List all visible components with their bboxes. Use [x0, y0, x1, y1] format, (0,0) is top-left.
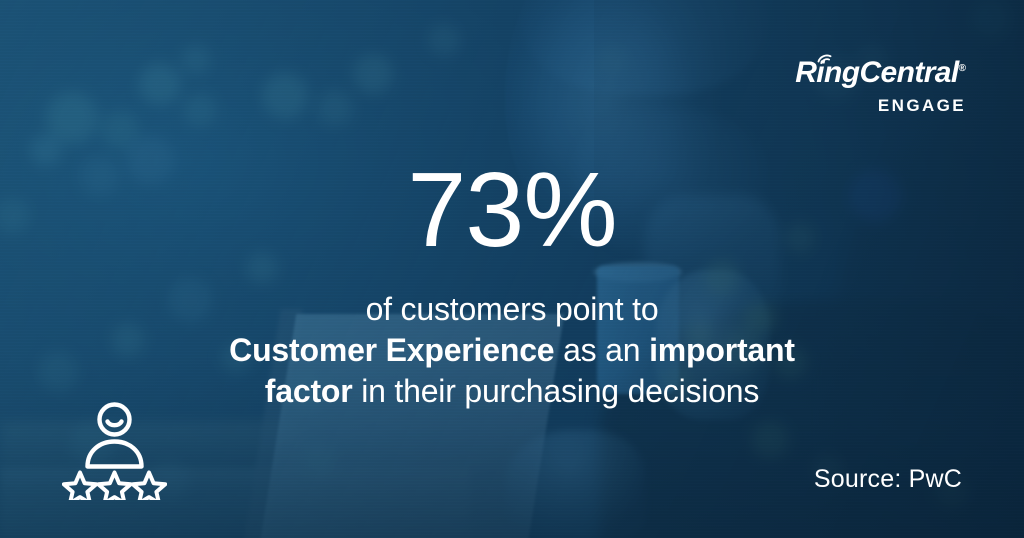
body-line2-bold-a: Customer Experience — [229, 332, 554, 368]
star-rating-group — [64, 473, 165, 501]
body-copy-line-3: factor in their purchasing decisions — [40, 371, 984, 412]
registered-trademark-symbol: ® — [959, 63, 966, 74]
infographic-card: RingCentral® ENGAGE 73% of customers poi… — [0, 0, 1024, 538]
ringcentral-wordmark: RingCentral® — [795, 58, 966, 88]
brand-logo-block[interactable]: RingCentral® ENGAGE — [795, 58, 966, 114]
body-line3-plain: in their purchasing decisions — [353, 373, 760, 409]
statistic-value: 73% — [0, 157, 1024, 263]
person-shoulders-icon — [88, 442, 142, 467]
body-line3-bold: factor — [265, 373, 353, 409]
ringcentral-logo-text: RingCentral — [795, 56, 958, 89]
customer-satisfaction-icon — [62, 400, 167, 500]
star-icon-3 — [133, 473, 165, 501]
star-icon-1 — [64, 473, 96, 501]
source-attribution: Source: PwC — [814, 465, 962, 494]
body-copy-line-2: Customer Experience as an important — [40, 330, 984, 371]
star-icon-2 — [98, 473, 130, 501]
body-copy-line-1: of customers point to — [40, 289, 984, 330]
body-copy: of customers point to Customer Experienc… — [0, 289, 1024, 412]
smile-icon — [108, 422, 122, 426]
body-line2-plain: as an — [554, 332, 649, 368]
content-layer: RingCentral® ENGAGE 73% of customers poi… — [0, 0, 1024, 538]
body-line2-bold-b: important — [649, 332, 795, 368]
product-line-label: ENGAGE — [795, 97, 966, 114]
body-line1-text: of customers point to — [366, 291, 659, 327]
person-head-icon — [100, 405, 130, 435]
